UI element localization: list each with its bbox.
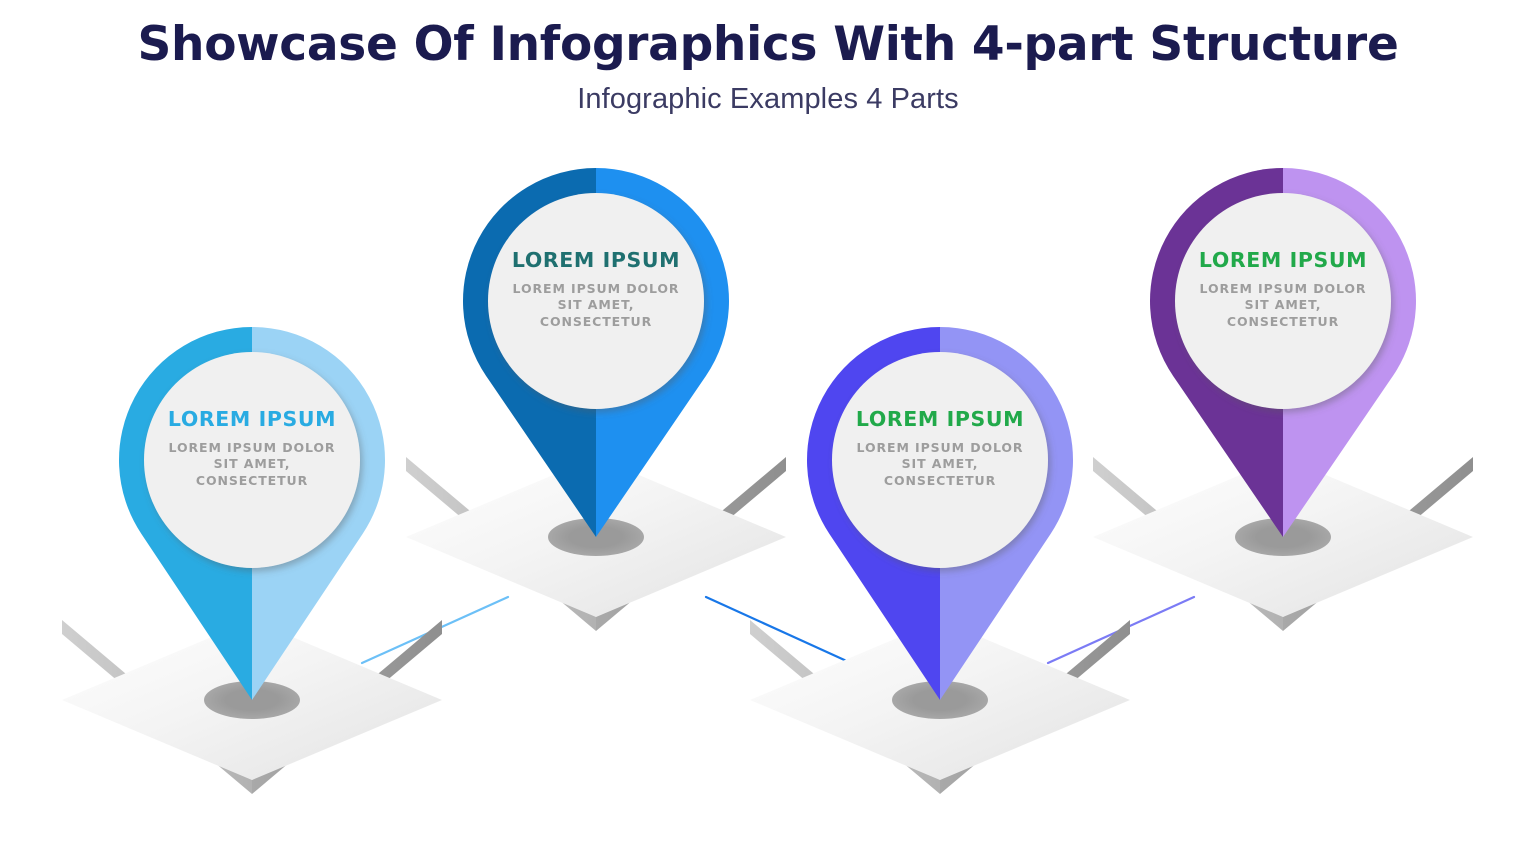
pin-2[interactable]	[463, 168, 729, 537]
infographic-stage: LOREM IPSUM LOREM IPSUM DOLOR SIT AMET, …	[0, 0, 1536, 864]
pin-1-inner-circle	[144, 352, 360, 568]
header: Showcase Of Infographics With 4-part Str…	[0, 0, 1536, 116]
pin-4-inner-circle	[1175, 193, 1391, 409]
page-title: Showcase Of Infographics With 4-part Str…	[0, 0, 1536, 71]
infographic-scene-svg	[0, 0, 1536, 864]
pin-3[interactable]	[807, 327, 1073, 700]
pin-4[interactable]	[1150, 168, 1416, 537]
pin-1[interactable]	[119, 327, 385, 700]
pin-3-inner-circle	[832, 352, 1048, 568]
page-subtitle: Infographic Examples 4 Parts	[0, 71, 1536, 116]
pin-2-inner-circle	[488, 193, 704, 409]
pins-layer	[119, 168, 1416, 700]
